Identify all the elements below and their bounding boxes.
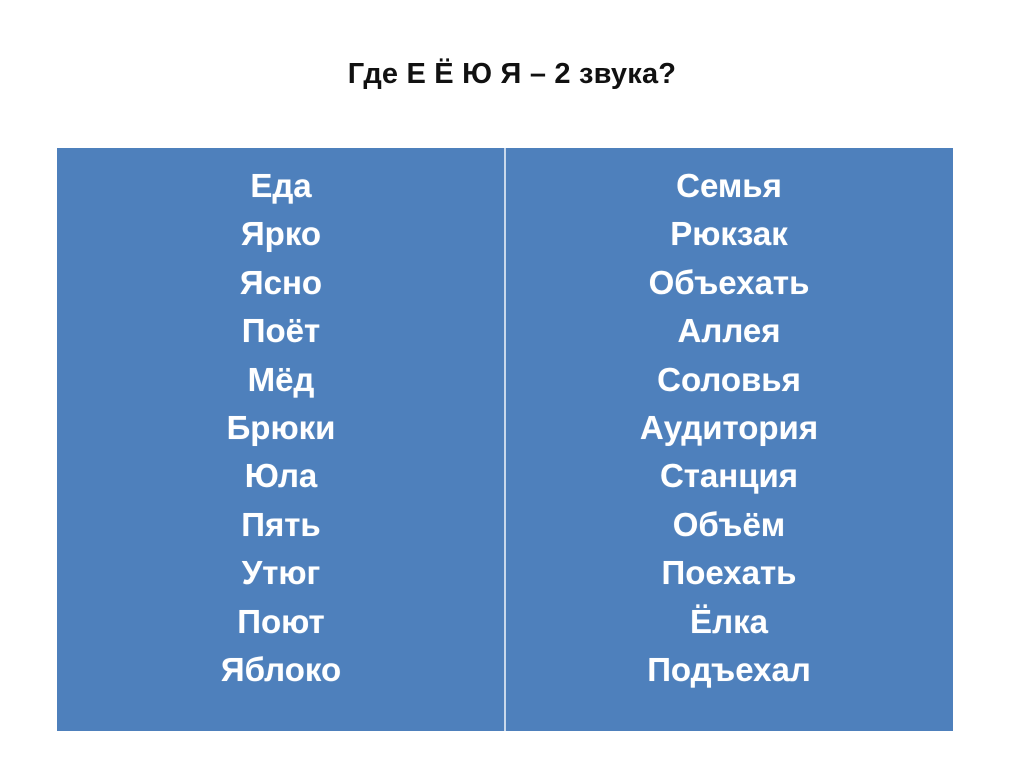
word-panel: Еда Ярко Ясно Поёт Мёд Брюки Юла Пять Ут… [57,148,953,731]
list-item: Объём [673,501,785,549]
slide: Где Е Ё Ю Я – 2 звука? Еда Ярко Ясно Поё… [0,0,1024,767]
list-item: Поехать [662,549,797,597]
list-item: Пять [241,501,320,549]
list-item: Аллея [678,307,781,355]
list-item: Юла [245,452,318,500]
list-item: Утюг [242,549,321,597]
list-item: Поёт [242,307,320,355]
list-item: Подъехал [647,646,811,694]
list-item: Семья [676,162,782,210]
list-item: Ёлка [690,598,768,646]
list-item: Объехать [649,259,810,307]
list-item: Яблоко [221,646,341,694]
list-item: Соловья [657,356,801,404]
list-item: Станция [660,452,798,500]
list-item: Ярко [241,210,321,258]
list-item: Поют [237,598,324,646]
list-item: Аудитория [640,404,818,452]
word-column-right: Семья Рюкзак Объехать Аллея Соловья Ауди… [505,148,953,731]
list-item: Ясно [240,259,322,307]
word-column-left: Еда Ярко Ясно Поёт Мёд Брюки Юла Пять Ут… [57,148,505,731]
list-item: Рюкзак [670,210,788,258]
list-item: Мёд [248,356,315,404]
list-item: Еда [250,162,311,210]
page-title: Где Е Ё Ю Я – 2 звука? [0,56,1024,92]
list-item: Брюки [227,404,336,452]
